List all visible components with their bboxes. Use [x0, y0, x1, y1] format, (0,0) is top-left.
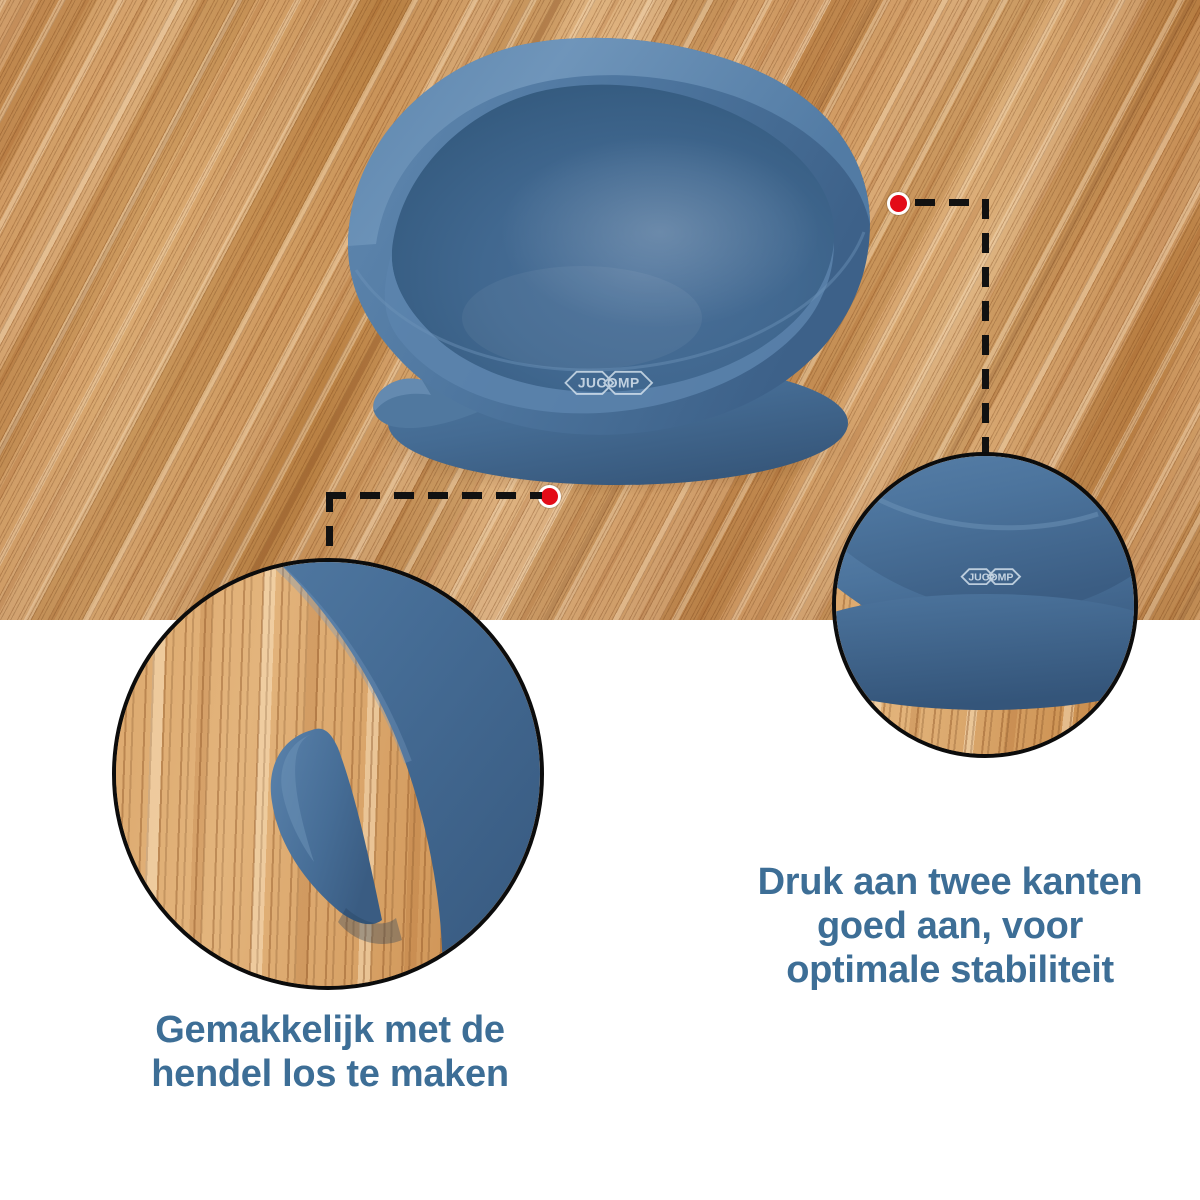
callout-dot-suction-base[interactable] — [887, 192, 910, 215]
brand-logo-text: JUCOMP — [578, 375, 640, 390]
caption-right-line-2: goed aan, voor — [690, 904, 1200, 948]
product-main-image: JUCOMP — [330, 18, 890, 508]
inset-release-tab[interactable] — [112, 558, 544, 990]
caption-left-line-1: Gemakkelijk met de — [60, 1008, 600, 1052]
caption-right: Druk aan twee kanten goed aan, voor opti… — [690, 860, 1200, 992]
caption-left: Gemakkelijk met de hendel los te maken — [60, 1008, 600, 1096]
inset-right-suction-flange — [836, 594, 1138, 710]
inset-left-release-tab — [116, 562, 544, 990]
inset-right-brand-logo-text: JUCOMP — [968, 571, 1013, 583]
inset-right-bowl-base: JUCOMP — [836, 456, 1138, 758]
bowl-interior-highlight-2 — [462, 266, 702, 370]
callout-line-horizontal-right — [915, 199, 989, 206]
inset-suction-base[interactable]: JUCOMP — [832, 452, 1138, 758]
callout-line-horizontal-left — [326, 492, 542, 499]
callout-line-vertical-right — [982, 199, 989, 454]
caption-left-line-2: hendel los te maken — [60, 1052, 600, 1096]
suction-bowl-illustration: JUCOMP — [330, 18, 890, 508]
callout-line-vertical-left — [326, 492, 333, 562]
caption-right-line-3: optimale stabiliteit — [690, 948, 1200, 992]
inset-right-brand-logo: JUCOMP — [962, 569, 1020, 584]
caption-right-line-1: Druk aan twee kanten — [690, 860, 1200, 904]
infographic-canvas: JUCOMP — [0, 0, 1200, 1200]
